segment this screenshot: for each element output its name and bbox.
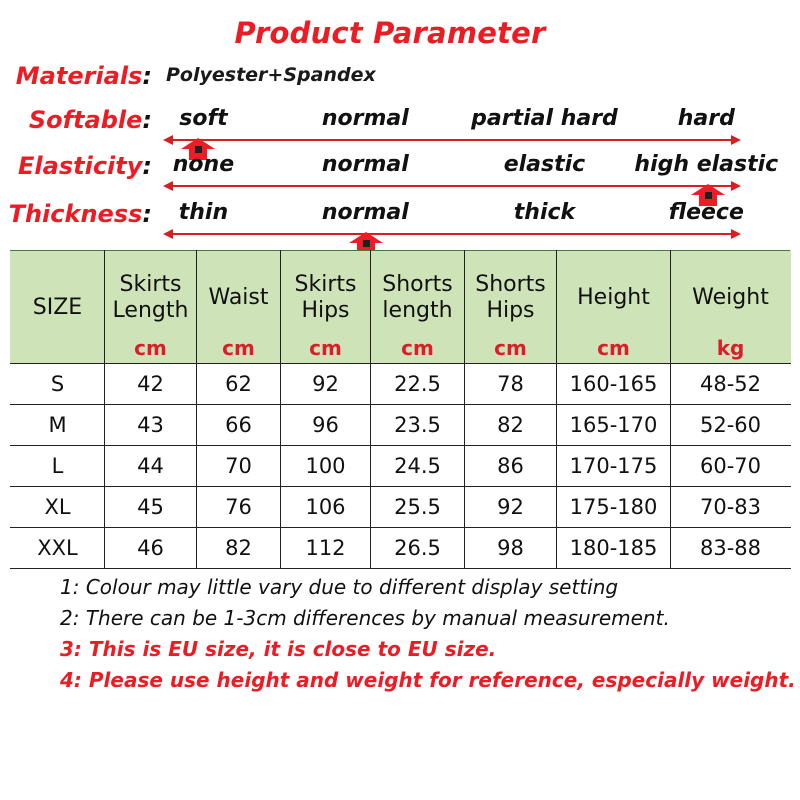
arrow-bar bbox=[169, 233, 735, 235]
column-header-skirts-length: SkirtsLengthcm bbox=[105, 251, 197, 364]
note-item: 2: There can be 1-3cm differences by man… bbox=[60, 603, 780, 634]
column-header-label: SkirtsLength bbox=[113, 258, 189, 338]
column-header-label: Weight bbox=[692, 258, 769, 338]
softable-scale-arrow bbox=[163, 133, 741, 147]
table-cell: 170-175 bbox=[557, 446, 671, 487]
materials-label-text: Materials bbox=[16, 62, 143, 90]
table-cell: 98 bbox=[465, 528, 557, 569]
table-cell: 96 bbox=[281, 405, 371, 446]
table-cell: 62 bbox=[197, 364, 281, 405]
column-header-size: SIZE bbox=[11, 251, 105, 364]
softable-label: Softable: bbox=[0, 106, 152, 134]
elasticity-label-text: Elasticity bbox=[18, 152, 142, 180]
thickness-colon: : bbox=[142, 200, 152, 228]
marker-notch bbox=[705, 192, 712, 199]
column-header-label: Waist bbox=[208, 258, 268, 338]
thickness-scale-arrow bbox=[163, 227, 741, 241]
column-header-shorts-hips: ShortsHipscm bbox=[465, 251, 557, 364]
table-row: L447010024.586170-17560-70 bbox=[11, 446, 791, 487]
table-cell: 70-83 bbox=[671, 487, 791, 528]
column-header-unit: cm bbox=[134, 338, 167, 358]
arrow-head-right-icon bbox=[731, 229, 741, 239]
softable-scale-labels: soft normal partial hard hard bbox=[163, 106, 741, 136]
table-row: S42629222.578160-16548-52 bbox=[11, 364, 791, 405]
table-cell: 160-165 bbox=[557, 364, 671, 405]
arrow-bar bbox=[169, 185, 735, 187]
table-cell: 45 bbox=[105, 487, 197, 528]
elasticity-colon: : bbox=[142, 152, 152, 180]
elasticity-scale-arrow bbox=[163, 179, 741, 193]
size-chart-table: SIZESkirtsLengthcmWaistcmSkirtsHipscmSho… bbox=[10, 250, 791, 569]
thickness-option-1[interactable]: normal bbox=[322, 200, 409, 225]
elasticity-option-3[interactable]: high elastic bbox=[634, 152, 778, 177]
table-cell: 25.5 bbox=[371, 487, 465, 528]
table-cell: 23.5 bbox=[371, 405, 465, 446]
arrow-head-right-icon bbox=[731, 135, 741, 145]
materials-value: Polyester+Spandex bbox=[166, 64, 376, 86]
table-cell: 180-185 bbox=[557, 528, 671, 569]
materials-label: Materials: bbox=[0, 62, 152, 90]
table-cell: 165-170 bbox=[557, 405, 671, 446]
table-cell: 48-52 bbox=[671, 364, 791, 405]
column-header-unit: cm bbox=[309, 338, 342, 358]
softable-option-2[interactable]: partial hard bbox=[471, 106, 618, 131]
arrow-bar bbox=[169, 139, 735, 141]
table-cell: 66 bbox=[197, 405, 281, 446]
table-cell: 86 bbox=[465, 446, 557, 487]
table-cell: 60-70 bbox=[671, 446, 791, 487]
table-row: XL457610625.592175-18070-83 bbox=[11, 487, 791, 528]
table-cell: 43 bbox=[105, 405, 197, 446]
thickness-scale-labels: thin normal thick fleece bbox=[163, 200, 741, 230]
table-header-row: SIZESkirtsLengthcmWaistcmSkirtsHipscmSho… bbox=[11, 251, 791, 364]
table-cell: 52-60 bbox=[671, 405, 791, 446]
cell-size: S bbox=[11, 364, 105, 405]
product-parameter-infographic: Product Parameter Materials: Polyester+S… bbox=[0, 0, 800, 800]
table-cell: 92 bbox=[465, 487, 557, 528]
elasticity-option-1[interactable]: normal bbox=[322, 152, 409, 177]
notes-list: 1: Colour may little vary due to differe… bbox=[60, 572, 780, 696]
thickness-label: Thickness: bbox=[0, 200, 152, 228]
softable-colon: : bbox=[142, 106, 152, 134]
arrow-head-right-icon bbox=[731, 181, 741, 191]
table-row: XXL468211226.598180-18583-88 bbox=[11, 528, 791, 569]
column-header-label: SkirtsHips bbox=[295, 258, 357, 338]
column-header-height: Heightcm bbox=[557, 251, 671, 364]
table-cell: 76 bbox=[197, 487, 281, 528]
note-item: 3: This is EU size, it is close to EU si… bbox=[60, 634, 780, 665]
column-header-shorts-length: Shortslengthcm bbox=[371, 251, 465, 364]
thickness-option-2[interactable]: thick bbox=[514, 200, 575, 225]
softable-option-3[interactable]: hard bbox=[678, 106, 735, 131]
cell-size: L bbox=[11, 446, 105, 487]
table-cell: 70 bbox=[197, 446, 281, 487]
table-cell: 82 bbox=[197, 528, 281, 569]
table-cell: 22.5 bbox=[371, 364, 465, 405]
spec-row-softable: Softable: soft normal partial hard hard bbox=[0, 106, 800, 146]
note-item: 4: Please use height and weight for refe… bbox=[60, 665, 780, 696]
cell-size: XL bbox=[11, 487, 105, 528]
table-cell: 44 bbox=[105, 446, 197, 487]
column-header-unit: cm bbox=[597, 338, 630, 358]
table-cell: 106 bbox=[281, 487, 371, 528]
thickness-option-3[interactable]: fleece bbox=[669, 200, 744, 225]
elasticity-option-0[interactable]: none bbox=[173, 152, 234, 177]
column-header-unit: cm bbox=[494, 338, 527, 358]
page-title: Product Parameter bbox=[0, 16, 780, 50]
cell-size: XXL bbox=[11, 528, 105, 569]
table-body: S42629222.578160-16548-52M43669623.58216… bbox=[11, 364, 791, 569]
spec-row-materials: Materials: Polyester+Spandex bbox=[0, 62, 800, 102]
marker-notch bbox=[363, 240, 370, 247]
column-header-label: Height bbox=[577, 258, 650, 338]
softable-label-text: Softable bbox=[29, 106, 143, 134]
column-header-label: ShortsHips bbox=[475, 258, 546, 338]
column-header-unit: kg bbox=[717, 338, 745, 358]
note-item: 1: Colour may little vary due to differe… bbox=[60, 572, 780, 603]
column-header-label: Shortslength bbox=[382, 258, 453, 338]
table-cell: 83-88 bbox=[671, 528, 791, 569]
softable-option-1[interactable]: normal bbox=[322, 106, 409, 131]
table-cell: 26.5 bbox=[371, 528, 465, 569]
elasticity-label: Elasticity: bbox=[0, 152, 152, 180]
cell-size: M bbox=[11, 405, 105, 446]
table-cell: 112 bbox=[281, 528, 371, 569]
elasticity-option-2[interactable]: elastic bbox=[504, 152, 586, 177]
column-header-unit: cm bbox=[401, 338, 434, 358]
thickness-label-text: Thickness bbox=[9, 200, 143, 228]
column-header-waist: Waistcm bbox=[197, 251, 281, 364]
table-cell: 46 bbox=[105, 528, 197, 569]
spec-row-thickness: Thickness: thin normal thick fleece bbox=[0, 200, 800, 240]
table-cell: 42 bbox=[105, 364, 197, 405]
table-cell: 92 bbox=[281, 364, 371, 405]
spec-row-elasticity: Elasticity: none normal elastic high ela… bbox=[0, 152, 800, 192]
table-row: M43669623.582165-17052-60 bbox=[11, 405, 791, 446]
column-header-unit: cm bbox=[222, 338, 255, 358]
elasticity-scale-labels: none normal elastic high elastic bbox=[163, 152, 741, 182]
table-cell: 100 bbox=[281, 446, 371, 487]
column-header-weight: Weightkg bbox=[671, 251, 791, 364]
table-cell: 82 bbox=[465, 405, 557, 446]
table-cell: 24.5 bbox=[371, 446, 465, 487]
table-cell: 78 bbox=[465, 364, 557, 405]
thickness-option-0[interactable]: thin bbox=[179, 200, 228, 225]
column-header-label: SIZE bbox=[33, 258, 82, 358]
materials-colon: : bbox=[142, 62, 152, 90]
column-header-skirts-hips: SkirtsHipscm bbox=[281, 251, 371, 364]
softable-option-0[interactable]: soft bbox=[179, 106, 227, 131]
table-cell: 175-180 bbox=[557, 487, 671, 528]
